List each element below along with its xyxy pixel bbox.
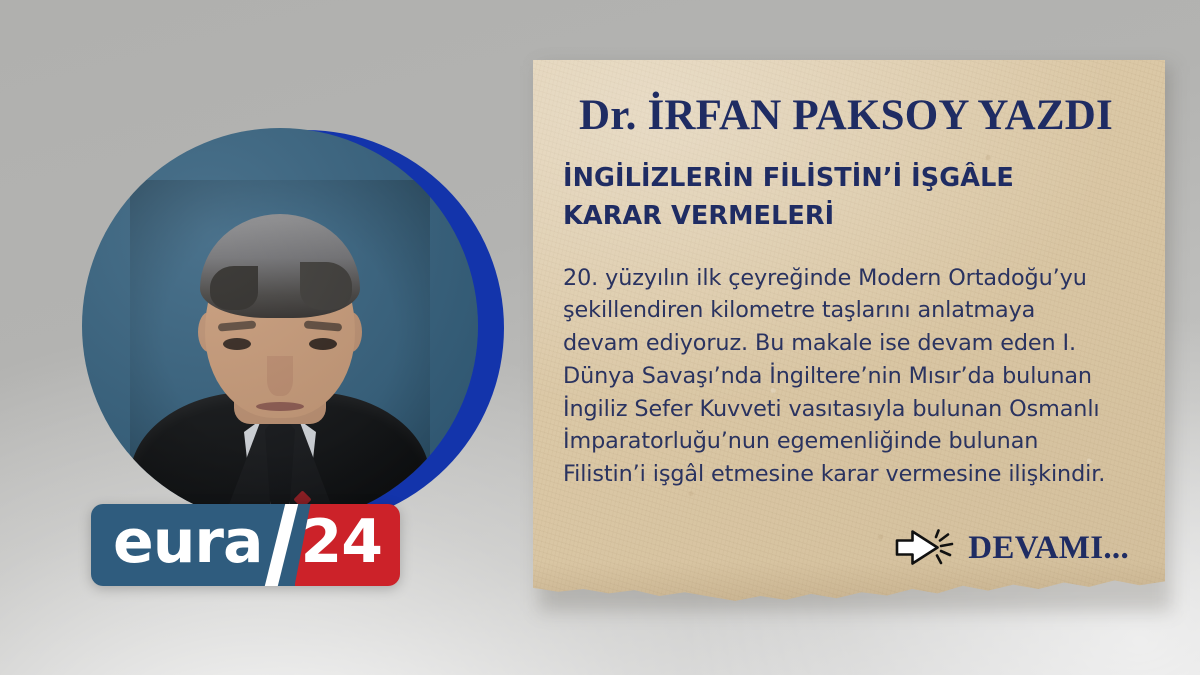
portrait-illustration [130, 180, 430, 524]
article-subtitle: İNGİLİZLERİN FİLİSTİN’İ İŞGÂLE KARAR VER… [563, 160, 1129, 235]
article-subtitle-line-2: KARAR VERMELERİ [563, 198, 1129, 236]
article-body-line-3: devam ediyoruz. Bu makale ise devam eden… [563, 327, 1129, 360]
logo-number: 24 [301, 512, 383, 572]
article-body-line-5: İngiliz Sefer Kuvveti vasıtasıyla buluna… [563, 393, 1129, 426]
article-body-line-4: Dünya Savaşı’nda İngiltere’nin Mısır’da … [563, 360, 1129, 393]
portrait-eye-left [223, 338, 251, 350]
portrait-mouth [256, 402, 304, 411]
article-subtitle-line-1: İNGİLİZLERİN FİLİSTİN’İ İŞGÂLE [563, 160, 1129, 198]
article-body: 20. yüzyılın ilk çeyreğinde Modern Ortad… [563, 262, 1129, 491]
paper-content: Dr. İRFAN PAKSOY YAZDI İNGİLİZLERİN FİLİ… [533, 60, 1165, 602]
portrait-nose [267, 356, 293, 396]
portrait-hair [200, 214, 360, 318]
logo-word: eura [113, 512, 263, 572]
page-title: Dr. İRFAN PAKSOY YAZDI [563, 60, 1129, 138]
eura24-logo[interactable]: eura 24 [91, 504, 422, 586]
torn-paper-card: Dr. İRFAN PAKSOY YAZDI İNGİLİZLERİN FİLİ… [533, 60, 1165, 602]
portrait-eye-right [309, 338, 337, 350]
read-more-label: DEVAMI... [968, 532, 1129, 565]
article-body-line-6: İmparatorluğu’nun egemenliğinde bulunan [563, 425, 1129, 458]
read-more-button[interactable]: DEVAMI... [894, 528, 1129, 568]
avatar [82, 128, 478, 524]
slide-canvas: eura 24 Dr. İRFAN PAKSOY YAZDI İNGİLİZLE… [0, 0, 1200, 675]
logo-number-block: 24 [295, 504, 401, 586]
click-cursor-icon [894, 528, 956, 568]
article-body-line-2: şekillendiren kilometre taşlarını anlatm… [563, 294, 1129, 327]
logo-word-block: eura [91, 504, 273, 586]
article-body-line-7: Filistin’i işgâl etmesine karar vermesin… [563, 458, 1129, 491]
article-body-line-1: 20. yüzyılın ilk çeyreğinde Modern Ortad… [563, 262, 1129, 295]
